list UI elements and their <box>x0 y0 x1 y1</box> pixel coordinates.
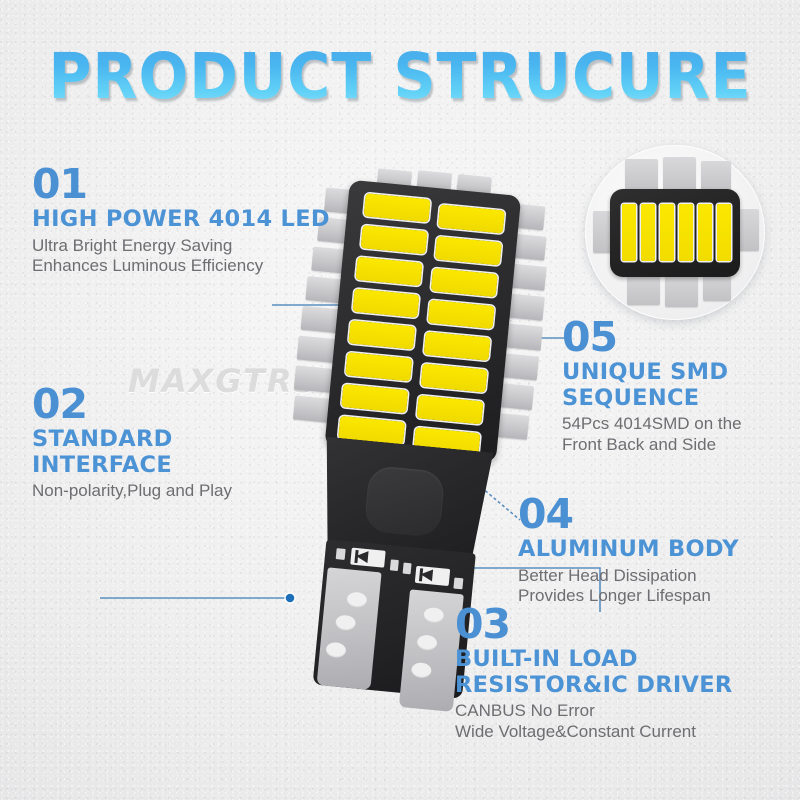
inset-fin <box>627 273 660 305</box>
led-chip <box>438 204 505 233</box>
led-chip <box>361 225 428 254</box>
smd-resistor <box>403 563 412 575</box>
inset-led-chip <box>698 204 712 261</box>
contact-dimple <box>416 634 437 651</box>
feature-number-04: 04 <box>518 495 739 534</box>
feature-heading-05-line2: SEQUENCE <box>562 386 742 412</box>
inset-led-body <box>610 189 740 277</box>
contact-dimple <box>423 607 444 624</box>
heatsink-fin <box>505 323 543 350</box>
inset-fin <box>663 157 696 193</box>
feature-desc-04-line2: Provides Longer Lifespan <box>518 586 739 606</box>
heatsink-fin <box>510 264 546 291</box>
feature-desc-03-line2: Wide Voltage&Constant Current <box>455 722 733 742</box>
diode-component <box>350 548 385 568</box>
page-title: PRODUCT STRUCURE <box>28 40 772 113</box>
contact-plate <box>317 567 382 690</box>
contact-dimple <box>335 614 356 631</box>
feature-desc-05-line2: Front Back and Side <box>562 435 742 455</box>
led-chip <box>345 352 412 381</box>
feature-block-01: 01 HIGH POWER 4014 LED Ultra Bright Ener… <box>32 165 330 276</box>
feature-desc-05-line1: 54Pcs 4014SMD on the <box>562 414 742 434</box>
led-head-housing <box>324 180 521 463</box>
heatsink-fin <box>300 306 339 333</box>
led-chip <box>435 236 502 265</box>
inset-led-chip <box>622 204 636 261</box>
smd-sequence-inset <box>585 145 765 320</box>
feature-heading-02-line2: INTERFACE <box>32 453 232 479</box>
feature-heading-03-line1: BUILT-IN LOAD <box>455 647 733 673</box>
feature-block-03: 03 BUILT-IN LOAD RESISTOR&IC DRIVER CANB… <box>455 605 733 742</box>
feature-desc-03-line1: CANBUS No Error <box>455 701 733 721</box>
led-chip <box>421 364 488 393</box>
feature-block-04: 04 ALUMINUM BODY Better Head Dissipation… <box>518 495 739 606</box>
feature-number-05: 05 <box>562 318 742 357</box>
heatsink-fin <box>297 336 336 363</box>
led-chip <box>352 289 419 318</box>
heatsink-fin <box>512 234 546 261</box>
feature-heading-04: ALUMINUM BODY <box>518 537 739 563</box>
inset-led-chip <box>717 204 731 261</box>
body-bump <box>364 465 446 538</box>
led-chip <box>428 300 495 329</box>
feature-number-03: 03 <box>455 605 733 644</box>
feature-desc-01-line1: Ultra Bright Energy Saving <box>32 236 330 256</box>
feature-block-05: 05 UNIQUE SMD SEQUENCE 54Pcs 4014SMD on … <box>562 318 742 455</box>
led-chip <box>431 268 498 297</box>
feature-number-01: 01 <box>32 165 330 204</box>
heatsink-fin <box>294 365 333 392</box>
heatsink-fin <box>508 294 545 321</box>
led-chip <box>348 320 415 349</box>
inset-led-chip <box>679 204 693 261</box>
contact-dimple <box>325 642 346 659</box>
feature-heading-03-line2: RESISTOR&IC DRIVER <box>455 673 733 699</box>
led-chip <box>417 395 484 424</box>
feature-desc-01-line2: Enhances Luminous Efficiency <box>32 256 330 276</box>
feature-block-02: 02 STANDARD INTERFACE Non-polarity,Plug … <box>32 385 232 502</box>
feature-heading-05-line1: UNIQUE SMD <box>562 360 742 386</box>
infographic-canvas: PRODUCT STRUCURE MAXGTRS <box>0 0 800 800</box>
feature-heading-01: HIGH POWER 4014 LED <box>32 207 330 233</box>
heatsink-fin <box>293 395 330 422</box>
led-chip <box>424 332 491 361</box>
heatsink-fin <box>501 353 539 380</box>
led-chip <box>341 384 408 413</box>
contact-dimple <box>411 662 432 679</box>
inset-led-chip <box>641 204 655 261</box>
led-chip <box>356 257 423 286</box>
led-chip <box>364 193 431 222</box>
inset-fin <box>625 159 658 193</box>
wedge-base <box>313 539 476 699</box>
feature-heading-02-line1: STANDARD <box>32 427 232 453</box>
smd-resistor <box>336 548 346 560</box>
inset-led-chip <box>660 204 674 261</box>
diode-component <box>415 566 450 586</box>
inset-fin <box>665 273 698 307</box>
feature-desc-02-line1: Non-polarity,Plug and Play <box>32 481 232 501</box>
smd-resistor <box>390 559 399 571</box>
feature-number-02: 02 <box>32 385 232 424</box>
feature-desc-04-line1: Better Head Dissipation <box>518 566 739 586</box>
contact-dimple <box>346 591 367 608</box>
smd-resistor <box>453 578 463 590</box>
